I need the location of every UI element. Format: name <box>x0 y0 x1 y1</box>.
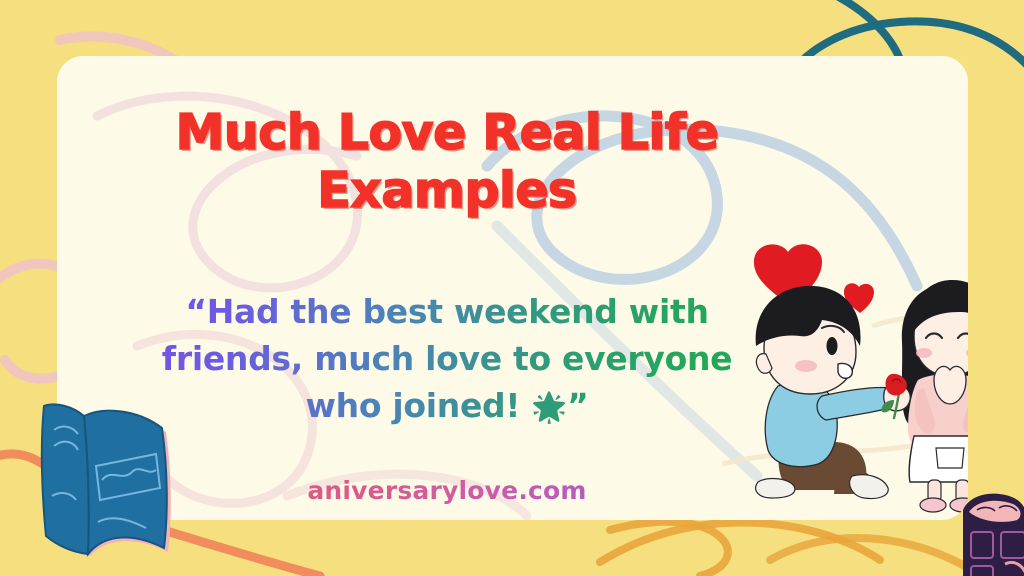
page-title: Much Love Real Life Examples <box>117 104 777 220</box>
girl-standing <box>902 280 968 512</box>
closed-book-icon <box>955 488 1024 576</box>
website-url[interactable]: aniversarylove.com <box>117 476 777 505</box>
boy-shoe-left <box>756 479 795 498</box>
girl-skirt <box>909 436 968 482</box>
quote-close-mark: ” <box>567 386 588 425</box>
couple-proposal-illustration <box>722 214 968 520</box>
title-line-1: Much Love Real Life <box>176 104 719 161</box>
boy-shoe-right <box>850 475 889 499</box>
orange-swirl-far <box>770 538 980 576</box>
star-icon: 🌟 <box>531 390 567 424</box>
quote-line-2: friends, much love to everyone <box>162 339 732 378</box>
illustration-svg <box>722 214 968 520</box>
quote-line-3: who joined! <box>305 386 520 425</box>
girl-blush-left <box>916 348 932 358</box>
boy-kneeling <box>756 286 911 499</box>
quote-line-1: “Had the best weekend with <box>185 292 708 331</box>
book-cover-right <box>84 411 167 554</box>
orange-swirl-right <box>600 522 880 562</box>
boy-mouth <box>838 363 852 378</box>
title-line-2: Examples <box>317 162 576 219</box>
boy-eye <box>827 337 838 355</box>
poster-canvas: Much Love Real Life Examples “Had the be… <box>0 0 1024 576</box>
girl-shoe-left <box>920 498 946 512</box>
boy-blush <box>795 360 817 372</box>
open-book-icon <box>0 388 186 576</box>
quote-text: “Had the best weekend with friends, much… <box>117 289 777 430</box>
content-card: Much Love Real Life Examples “Had the be… <box>57 56 968 520</box>
orange-swirl-mid <box>610 522 728 576</box>
